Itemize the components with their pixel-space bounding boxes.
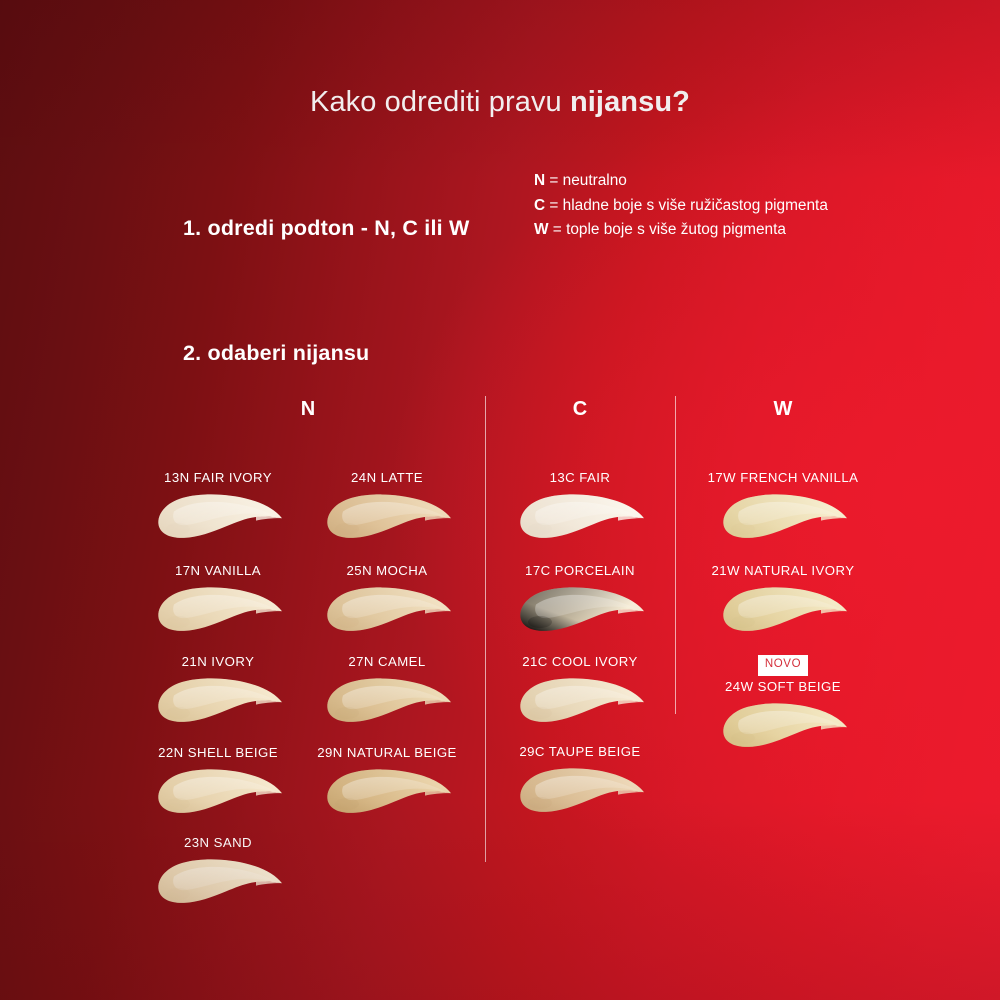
step-1-heading: 1. odredi podton - N, C ili W (183, 216, 469, 241)
column-divider-n-c (485, 396, 486, 862)
undertone-legend: N = neutralno C = hladne boje s više ruž… (534, 169, 834, 243)
shade-cell[interactable]: 17W FRENCH VANILLA (693, 470, 873, 545)
foundation-swatch-icon (152, 671, 284, 727)
shade-swatch (693, 580, 873, 638)
shade-name: 13C FAIR (490, 470, 670, 485)
shade-name: 22N SHELL BEIGE (128, 745, 308, 760)
shade-cell[interactable]: 23N SAND (128, 835, 308, 910)
foundation-swatch-icon (717, 487, 849, 543)
shade-cell[interactable]: 21C COOL IVORY (490, 654, 670, 729)
shade-name: 29C TAUPE BEIGE (490, 744, 670, 759)
shade-swatch (490, 580, 670, 638)
shade-cell[interactable]: 13C FAIR (490, 470, 670, 545)
shade-name: 17N VANILLA (128, 563, 308, 578)
shade-cell[interactable]: NOVO24W SOFT BEIGE (693, 654, 873, 754)
foundation-swatch-icon (514, 580, 646, 636)
foundation-swatch-icon (152, 580, 284, 636)
shade-badge-row: NOVO (693, 654, 873, 679)
shade-swatch (490, 671, 670, 729)
foundation-swatch-icon (321, 580, 453, 636)
shade-swatch (490, 761, 670, 819)
page-title-bold: nijansu? (570, 86, 690, 118)
foundation-swatch-icon (152, 487, 284, 543)
shade-name: 29N NATURAL BEIGE (297, 745, 477, 760)
column-header-n: N (278, 398, 338, 421)
foundation-swatch-icon (321, 762, 453, 818)
shade-swatch (297, 762, 477, 820)
page-title-plain: Kako odrediti pravu (310, 86, 570, 118)
foundation-swatch-icon (152, 852, 284, 908)
legend-item-c: C = hladne boje s više ružičastog pigmen… (534, 194, 834, 219)
shade-swatch (693, 696, 873, 754)
shade-swatch (693, 487, 873, 545)
shade-swatch (128, 487, 308, 545)
foundation-swatch-icon (321, 487, 453, 543)
shade-name: 21W NATURAL IVORY (693, 563, 873, 578)
shade-cell[interactable]: 25N MOCHA (297, 563, 477, 638)
foundation-swatch-icon (514, 487, 646, 543)
step-2-heading: 2. odaberi nijansu (183, 341, 369, 366)
shade-cell[interactable]: 17N VANILLA (128, 563, 308, 638)
column-header-w: W (753, 398, 813, 421)
shade-name: 13N FAIR IVORY (128, 470, 308, 485)
shade-cell[interactable]: 29N NATURAL BEIGE (297, 745, 477, 820)
shade-swatch (297, 671, 477, 729)
shade-name: 17C PORCELAIN (490, 563, 670, 578)
shade-swatch (297, 487, 477, 545)
legend-text-n: = neutralno (545, 172, 627, 189)
column-divider-c-w (675, 396, 676, 714)
shade-cell[interactable]: 13N FAIR IVORY (128, 470, 308, 545)
shade-swatch (128, 580, 308, 638)
shade-name: 23N SAND (128, 835, 308, 850)
foundation-swatch-icon (717, 696, 849, 752)
legend-key-w: W (534, 221, 549, 238)
shade-swatch (297, 580, 477, 638)
shade-cell[interactable]: 21N IVORY (128, 654, 308, 729)
shade-swatch (128, 852, 308, 910)
shade-name: 27N CAMEL (297, 654, 477, 669)
shade-name: 25N MOCHA (297, 563, 477, 578)
shade-cell[interactable]: 24N LATTE (297, 470, 477, 545)
shade-swatch (490, 487, 670, 545)
legend-item-n: N = neutralno (534, 169, 834, 194)
shade-swatch (128, 671, 308, 729)
foundation-swatch-icon (321, 671, 453, 727)
page-title: Kako odrediti pravu nijansu? (0, 86, 1000, 119)
shade-name: 17W FRENCH VANILLA (693, 470, 873, 485)
novo-badge: NOVO (758, 655, 808, 676)
legend-text-c: = hladne boje s više ružičastog pigmenta (545, 197, 828, 214)
shade-name: 24N LATTE (297, 470, 477, 485)
foundation-swatch-icon (717, 580, 849, 636)
shade-cell[interactable]: 17C PORCELAIN (490, 563, 670, 638)
shade-swatch (128, 762, 308, 820)
foundation-swatch-icon (514, 671, 646, 727)
column-header-c: C (550, 398, 610, 421)
shade-cell[interactable]: 21W NATURAL IVORY (693, 563, 873, 638)
shade-finder-poster: Kako odrediti pravu nijansu? 1. odredi p… (0, 0, 1000, 1000)
foundation-swatch-icon (514, 761, 646, 817)
shade-name: 24W SOFT BEIGE (693, 679, 873, 694)
legend-item-w: W = tople boje s više žutog pigmenta (534, 218, 834, 243)
shade-name: 21C COOL IVORY (490, 654, 670, 669)
legend-text-w: = tople boje s više žutog pigmenta (549, 221, 786, 238)
shade-cell[interactable]: 22N SHELL BEIGE (128, 745, 308, 820)
shade-cell[interactable]: 27N CAMEL (297, 654, 477, 729)
shade-cell[interactable]: 29C TAUPE BEIGE (490, 744, 670, 819)
legend-key-n: N (534, 172, 545, 189)
legend-key-c: C (534, 197, 545, 214)
foundation-swatch-icon (152, 762, 284, 818)
shade-name: 21N IVORY (128, 654, 308, 669)
